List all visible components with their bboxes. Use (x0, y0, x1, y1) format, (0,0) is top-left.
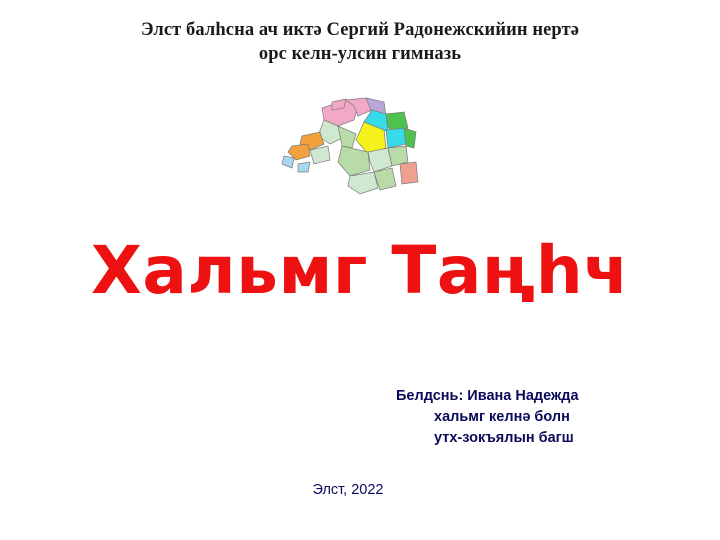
kalmykia-districts-map-icon (280, 90, 440, 208)
author-credit: Белдснь: Ивана Надежда хальмг келнә болн… (396, 386, 696, 449)
place-and-year: Элст, 2022 (0, 482, 720, 498)
author-line-1: Белдснь: Ивана Надежда (396, 386, 696, 407)
presentation-slide: Элст балһсна ач иктә Сергий Радонежскийи… (0, 0, 720, 540)
slide-title-line-2: орс келн-улсин гимназь (0, 42, 720, 66)
slide-title: Элст балһсна ач иктә Сергий Радонежскийи… (0, 18, 720, 66)
slide-title-line-1: Элст балһсна ач иктә Сергий Радонежскийи… (141, 20, 579, 40)
main-heading: Хальмг Таңһч (0, 236, 720, 306)
author-line-2: хальмг келнә болн (396, 407, 696, 428)
map-image-container (0, 90, 720, 213)
author-line-3: утх-зокъялын багш (396, 428, 696, 449)
